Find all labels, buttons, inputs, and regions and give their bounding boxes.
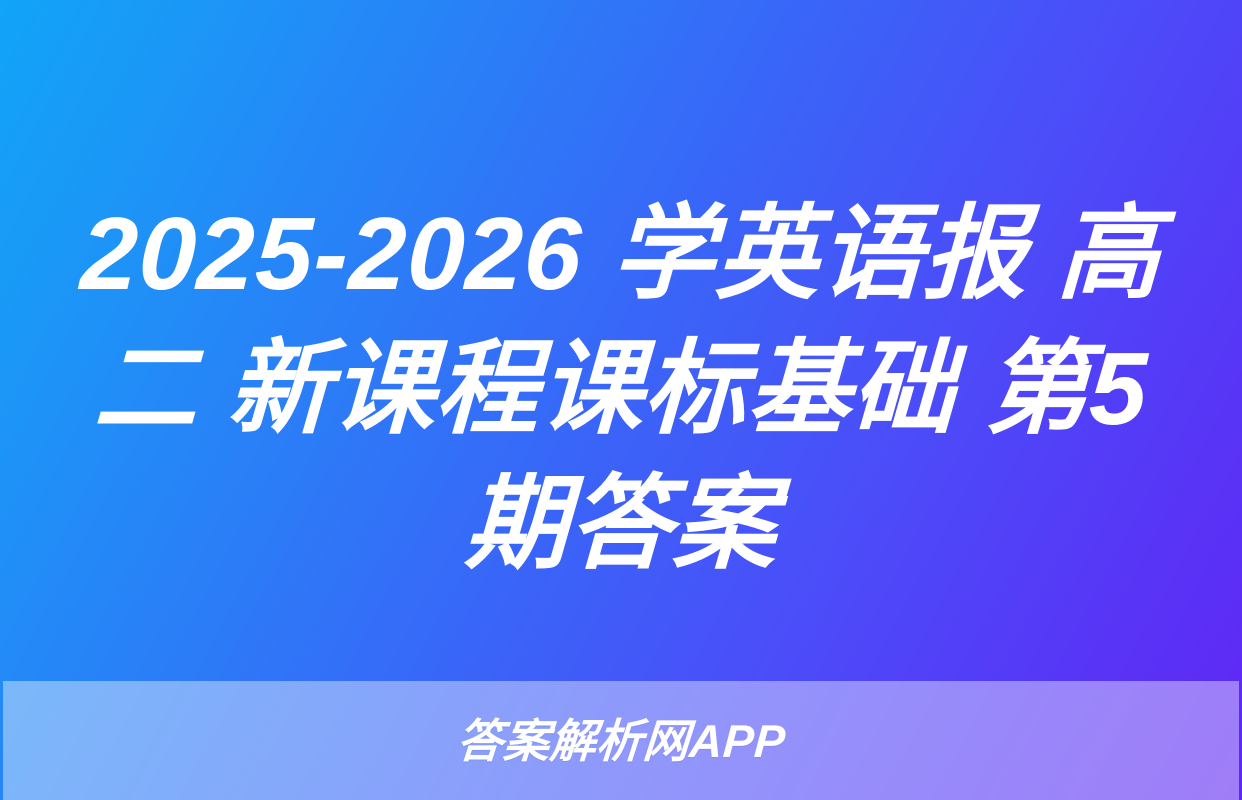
brand-watermark-label: 答案解析网APP (455, 718, 787, 764)
headline-line-3: 期答案 (67, 456, 1176, 591)
headline-line-1: 2025-2026 学英语报 高 (67, 186, 1176, 321)
poster-canvas: 2025-2026 学英语报 高 二 新课程课标基础 第5 期答案 答案解析网A… (0, 0, 1242, 800)
headline-line-2: 二 新课程课标基础 第5 (67, 321, 1176, 456)
headline-block: 2025-2026 学英语报 高 二 新课程课标基础 第5 期答案 (69, 186, 1173, 591)
footer-watermark-band: 答案解析网APP (3, 681, 1239, 800)
